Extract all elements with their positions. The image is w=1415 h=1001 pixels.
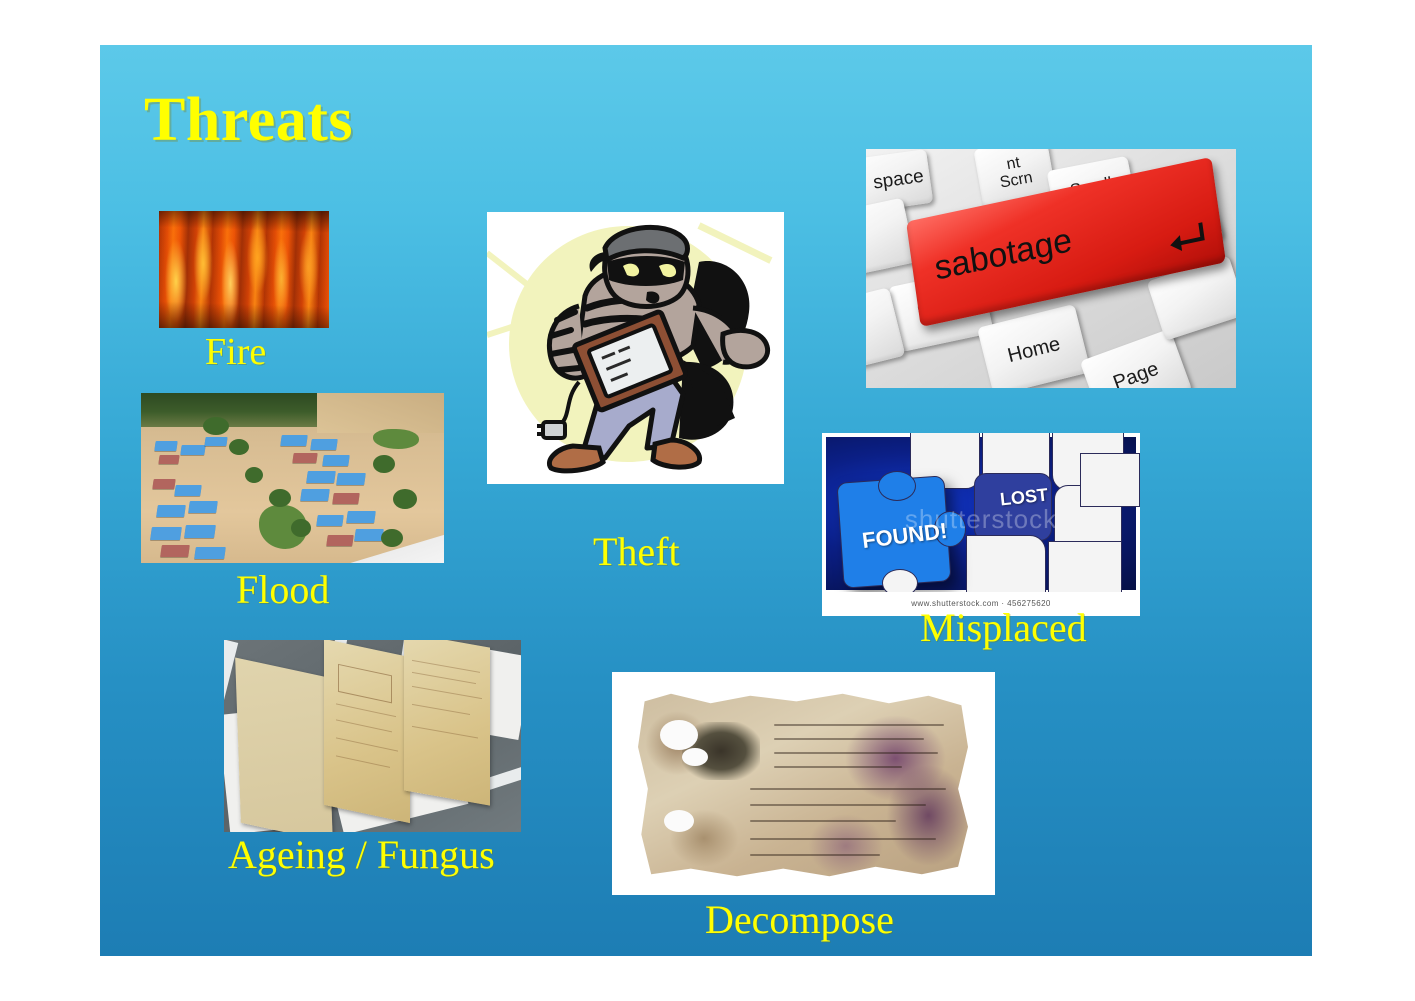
book-left-page (235, 657, 333, 832)
document-script-line (774, 766, 902, 768)
decompose-image (612, 672, 995, 895)
flood-tree (203, 417, 229, 435)
theft-burglar-illustration (487, 212, 784, 484)
fire-image (159, 211, 329, 328)
fire-image-shading (159, 211, 329, 328)
keyboard-key-sabotage-label: sabotage (932, 223, 1074, 288)
flood-roof (332, 493, 360, 504)
keyboard-key-print-screen-label: nt Scrn (996, 154, 1034, 193)
theft-image (487, 212, 784, 484)
document-script-line (774, 752, 938, 754)
flood-roof (336, 473, 366, 485)
misplaced-label: Misplaced (920, 608, 1087, 648)
decayed-document (638, 690, 968, 880)
keyboard-key-page-up-label: Page (1110, 358, 1161, 388)
document-script-line (750, 820, 896, 822)
keyboard-key-home: Home (977, 304, 1091, 388)
flood-roof (154, 441, 177, 451)
misplaced-image: FOUND! LOST shutterstock www.shutterstoc… (822, 433, 1140, 616)
book-middle-page (324, 640, 410, 823)
flood-roof (184, 525, 216, 538)
flood-tree (291, 519, 311, 537)
flood-tree (373, 455, 395, 473)
flood-roof (156, 505, 186, 517)
book-ruled-line (412, 660, 480, 673)
document-script-line (750, 804, 926, 806)
flood-roof (160, 545, 190, 557)
decompose-label: Decompose (705, 900, 894, 940)
book-ruled-line (412, 726, 478, 739)
book-ruled-line (412, 704, 470, 715)
flood-roof (310, 439, 338, 450)
sabotage-image: space nt Scrn Scroll Lock Pause Insert H… (866, 149, 1236, 388)
flood-roof (280, 435, 308, 446)
flood-green-patch (373, 429, 419, 449)
book-sketch-box (338, 664, 392, 703)
flood-roof (204, 437, 227, 446)
book-ruled-line (412, 672, 476, 684)
document-script-line (750, 788, 946, 790)
flood-label: Flood (236, 570, 329, 610)
flood-roof (180, 445, 205, 455)
flood-roof (188, 501, 218, 513)
theft-label: Theft (593, 532, 680, 572)
document-hole (664, 810, 694, 832)
flood-roof (194, 547, 226, 559)
ageing-label: Ageing / Fungus (228, 835, 495, 875)
document-hole (660, 720, 698, 750)
flood-roof (150, 527, 182, 540)
page-title: Threats (144, 85, 353, 156)
flood-roof (306, 471, 336, 483)
flood-tree (393, 489, 417, 509)
book-right-page (404, 640, 490, 806)
book-ruled-line (336, 755, 390, 767)
puzzle-piece (1080, 453, 1140, 507)
flood-roof (292, 453, 317, 463)
ageing-image (224, 640, 521, 832)
flood-tree (269, 489, 291, 507)
fire-label: Fire (205, 333, 266, 371)
document-hole (682, 748, 708, 766)
document-script-line (774, 738, 924, 740)
flood-tree (245, 467, 263, 483)
book-ruled-line (336, 737, 398, 751)
flood-tree (229, 439, 249, 455)
document-script-line (774, 724, 944, 726)
document-script-line (750, 838, 936, 840)
puzzle-piece (966, 535, 1046, 599)
flood-roof (316, 515, 344, 526)
flood-roof (326, 535, 354, 546)
flood-water-upper (317, 393, 444, 433)
slide-canvas: Threats Fire (100, 45, 1312, 956)
flood-roof (174, 485, 202, 496)
flood-roof (300, 489, 330, 501)
book-ruled-line (336, 719, 392, 732)
keyboard-key-home-label: Home (1006, 333, 1063, 366)
flood-roof (322, 455, 350, 466)
enter-arrow-icon (1165, 220, 1208, 258)
keyboard-key-space-label: space (872, 167, 925, 194)
flood-tree (381, 529, 403, 547)
document-script-line (750, 854, 880, 856)
flood-roof (346, 511, 376, 523)
book-ruled-line (336, 703, 396, 717)
book-ruled-line (412, 686, 482, 699)
flood-roof (354, 529, 384, 541)
puzzle-background: FOUND! LOST shutterstock (826, 437, 1136, 590)
flood-roof (152, 479, 175, 489)
flood-image (141, 393, 444, 563)
flood-roof (158, 455, 179, 464)
puzzle-knob (878, 471, 916, 501)
